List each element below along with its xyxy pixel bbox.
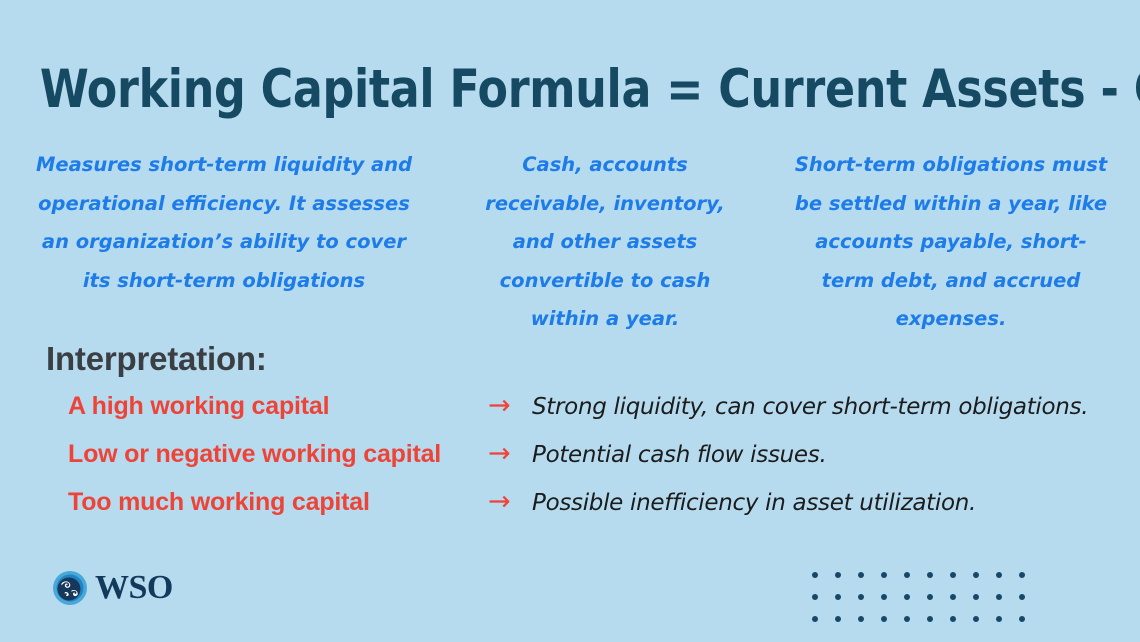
dot (835, 572, 841, 578)
dot (927, 572, 933, 578)
dot (973, 594, 979, 600)
dot (973, 616, 979, 622)
definition-columns: Measures short-term liquidity and operat… (28, 146, 1112, 339)
column-current-assets: Cash, accounts receivable, inventory, an… (462, 146, 748, 339)
dot (1019, 594, 1025, 600)
interpretation-table: A high working capital → Strong liquidit… (68, 392, 1118, 536)
dot (996, 616, 1002, 622)
wso-globe-icon (52, 570, 88, 606)
dot (927, 616, 933, 622)
dot (904, 594, 910, 600)
interpretation-row: Too much working capital → Possible inef… (68, 488, 1118, 536)
dot (835, 594, 841, 600)
dot (881, 616, 887, 622)
arrow-right-icon: → (488, 392, 532, 419)
dot (1019, 572, 1025, 578)
dot (927, 594, 933, 600)
column-current-liabilities: Short-term obligations must be settled w… (790, 146, 1112, 339)
dot (812, 616, 818, 622)
interpretation-cause: Low or negative working capital (68, 440, 488, 469)
dot (858, 616, 864, 622)
dot (950, 616, 956, 622)
dot (858, 572, 864, 578)
dot (881, 594, 887, 600)
interpretation-row: Low or negative working capital → Potent… (68, 440, 1118, 488)
column-definition: Measures short-term liquidity and operat… (28, 146, 420, 300)
dot (950, 572, 956, 578)
dot (904, 572, 910, 578)
interpretation-effect: Potential cash flow issues. (532, 442, 1118, 468)
dot (812, 572, 818, 578)
wso-logo: WSO (52, 570, 173, 606)
dot (858, 594, 864, 600)
arrow-right-icon: → (488, 488, 532, 515)
interpretation-cause: A high working capital (68, 392, 488, 421)
dot (973, 572, 979, 578)
dot (904, 616, 910, 622)
interpretation-cause: Too much working capital (68, 488, 488, 517)
interpretation-effect: Strong liquidity, can cover short-term o… (532, 394, 1118, 420)
decorative-dot-grid (812, 572, 1042, 638)
interpretation-row: A high working capital → Strong liquidit… (68, 392, 1118, 440)
wso-logo-text: WSO (95, 571, 173, 605)
infographic-slide: Working Capital Formula = Current Assets… (0, 0, 1140, 642)
dot (950, 594, 956, 600)
dot (812, 594, 818, 600)
dot (835, 616, 841, 622)
interpretation-heading: Interpretation: (46, 340, 267, 378)
dot (1019, 616, 1025, 622)
dot (996, 572, 1002, 578)
arrow-right-icon: → (488, 440, 532, 467)
dot (996, 594, 1002, 600)
page-title: Working Capital Formula = Current Assets… (40, 62, 1100, 118)
dot (881, 572, 887, 578)
interpretation-effect: Possible inefficiency in asset utilizati… (532, 490, 1118, 516)
